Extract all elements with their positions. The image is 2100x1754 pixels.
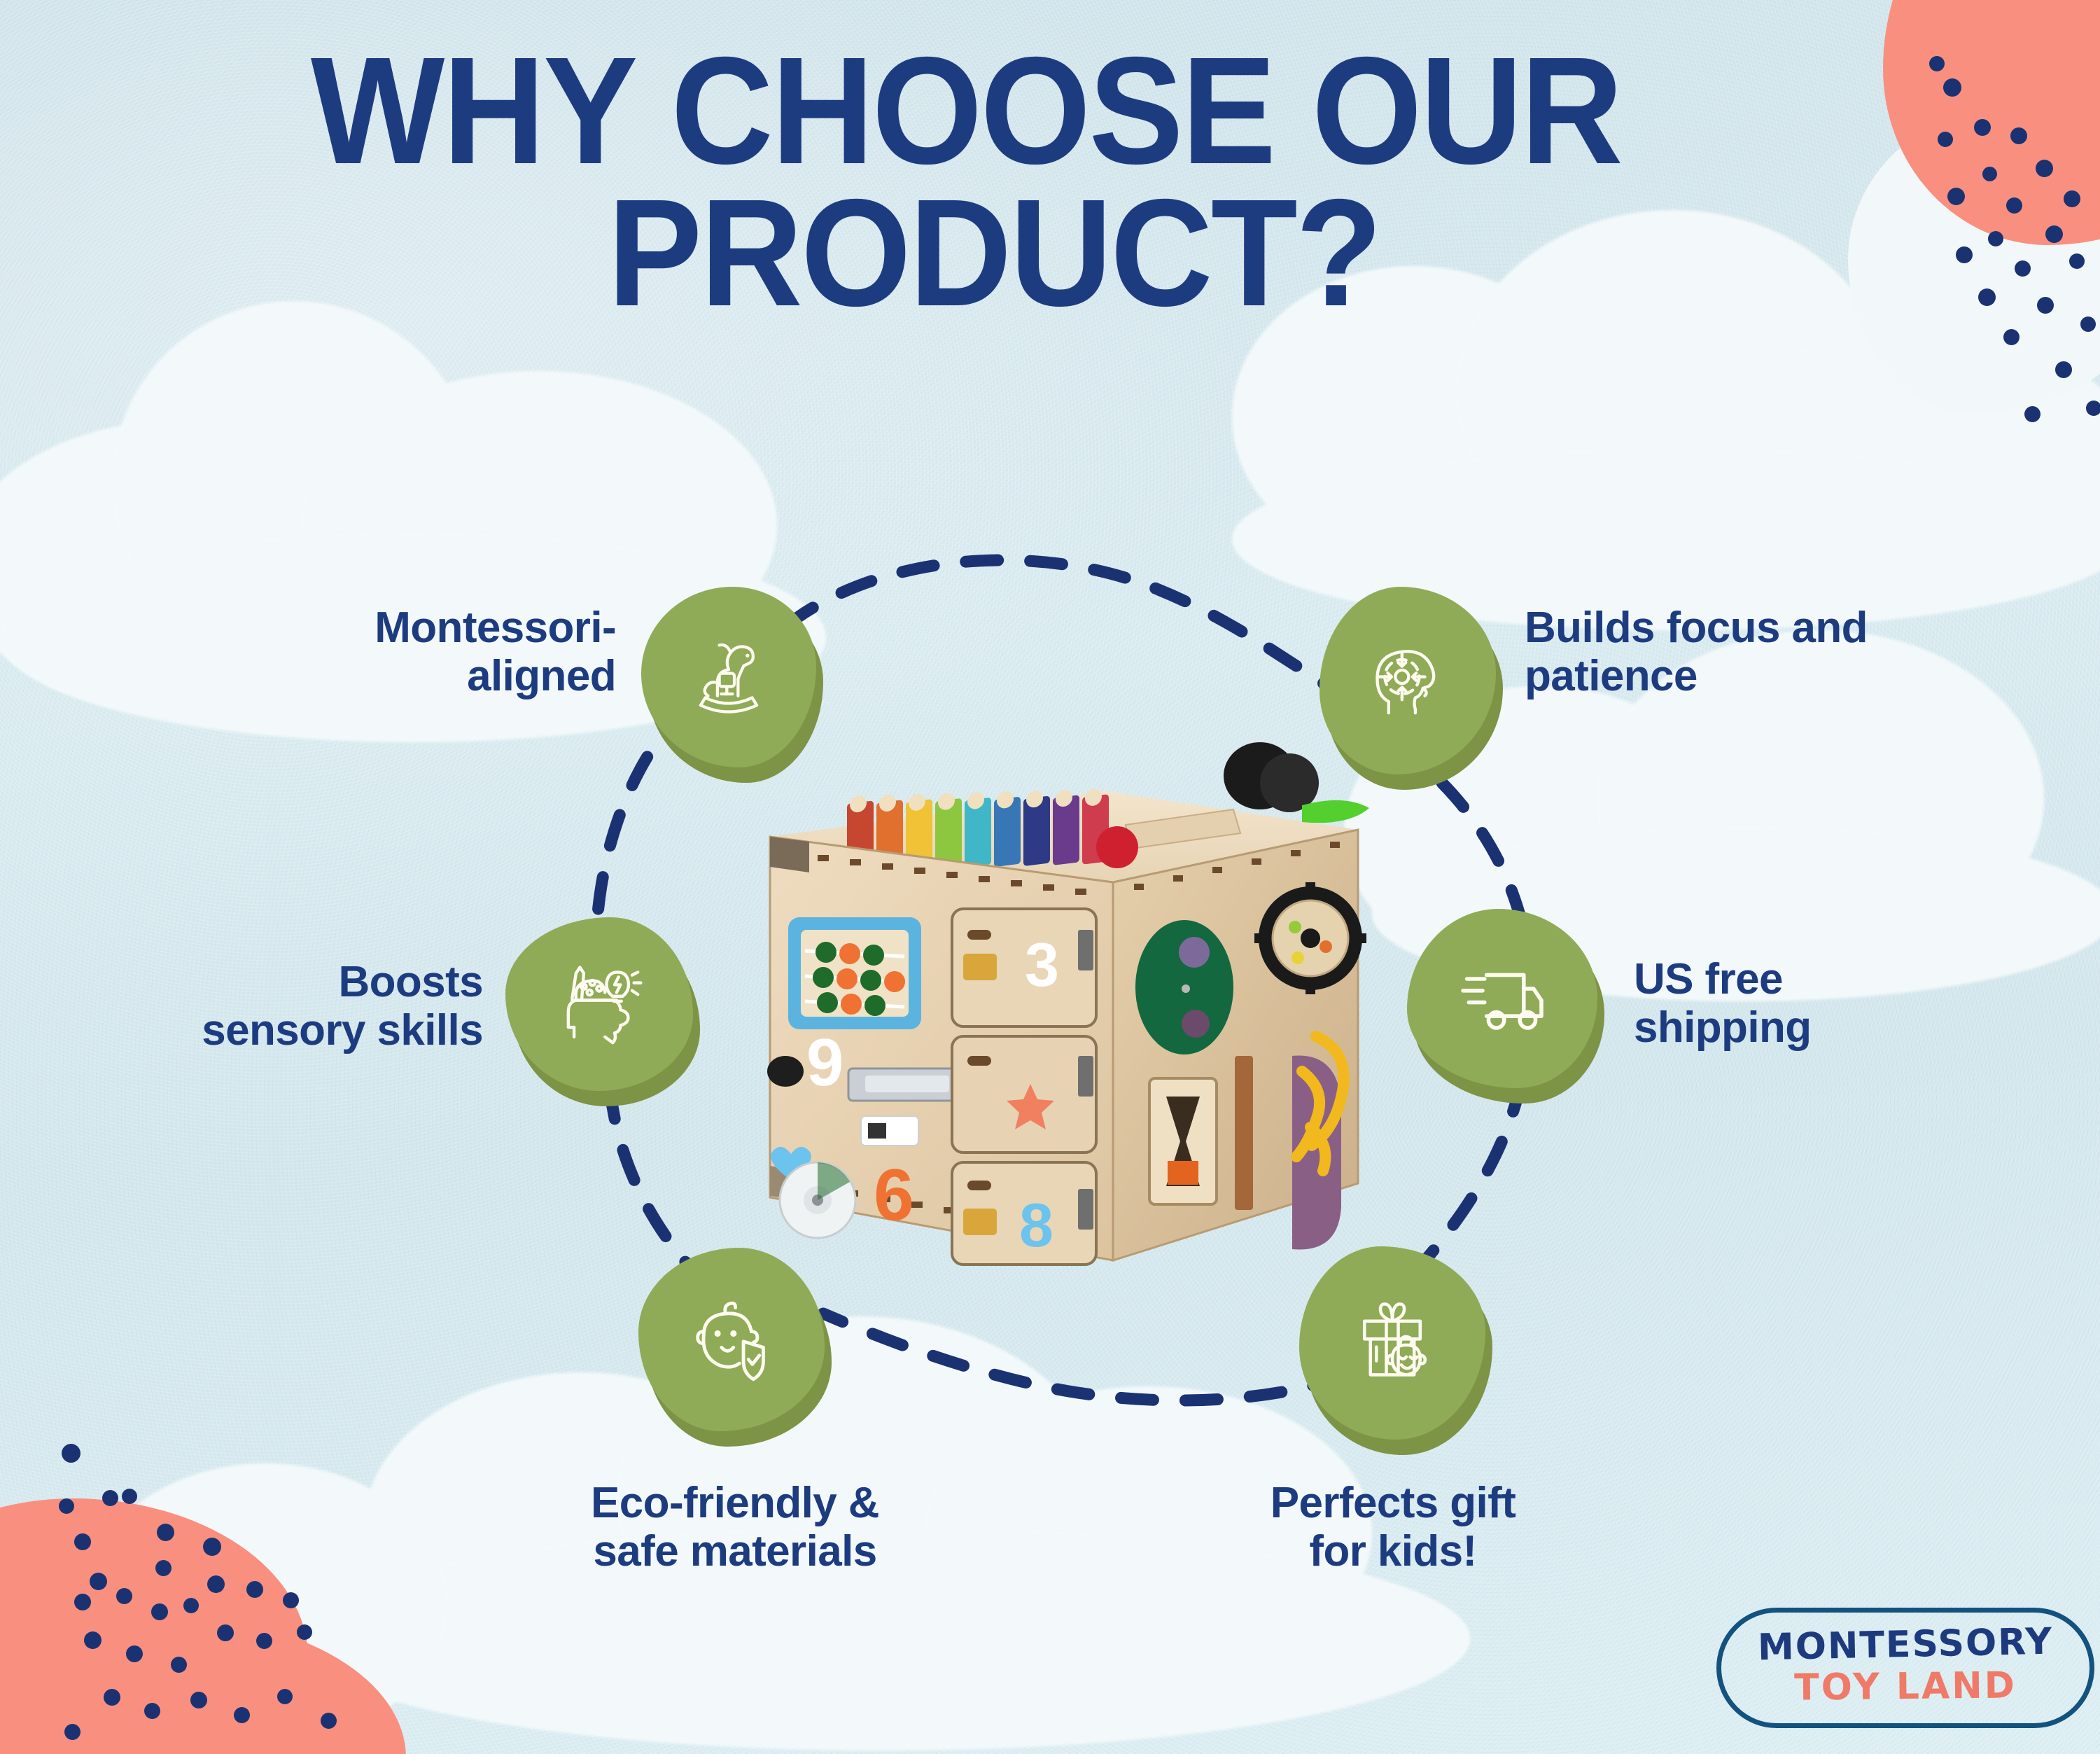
feature-label-builds-focus: Builds focus and patience <box>1525 604 1959 701</box>
feature-node-montessori-aligned[interactable] <box>641 587 816 767</box>
svg-text:9: 9 <box>806 1025 843 1100</box>
delivery-truck-icon <box>1407 909 1597 1088</box>
page-title: WHY CHOOSE OUR PRODUCT? <box>68 41 1865 324</box>
feature-label-eco-friendly: Eco-friendly & safe materials <box>490 1479 980 1576</box>
feature-label-boosts-sensory: Boosts sensory skills <box>119 958 483 1055</box>
page-title-line1: WHY CHOOSE OUR <box>68 41 1865 183</box>
creative-head-icon <box>505 917 693 1091</box>
svg-text:6: 6 <box>874 1155 914 1236</box>
feature-node-us-free-shipping[interactable] <box>1407 909 1597 1088</box>
feature-node-builds-focus[interactable] <box>1319 587 1496 774</box>
svg-text:3: 3 <box>1025 930 1059 999</box>
brand-logo-line2: TOY LAND <box>1758 1664 2054 1709</box>
feature-label-us-free-shipping: US free shipping <box>1634 955 1998 1052</box>
feature-node-perfect-gift[interactable] <box>1299 1246 1485 1440</box>
product-image-busy-cube: 9 6 3 8 <box>742 707 1372 1281</box>
gift-baby-icon <box>1299 1246 1485 1440</box>
feature-label-montessori-aligned: Montessori- aligned <box>266 604 616 701</box>
svg-text:8: 8 <box>1019 1190 1053 1260</box>
feature-label-perfect-gift: Perfects gift for kids! <box>1183 1479 1603 1576</box>
feature-node-boosts-sensory[interactable] <box>505 917 693 1091</box>
brand-logo[interactable]: MONTESSORY TOY LAND <box>1716 1608 2094 1728</box>
page-title-line2: PRODUCT? <box>68 183 1865 325</box>
baby-shield-icon <box>638 1248 825 1431</box>
brand-logo-line1: MONTESSORY <box>1757 1621 2053 1669</box>
feature-node-eco-friendly[interactable] <box>638 1248 825 1431</box>
rocking-horse-icon <box>641 587 816 767</box>
focus-head-icon <box>1319 587 1496 774</box>
